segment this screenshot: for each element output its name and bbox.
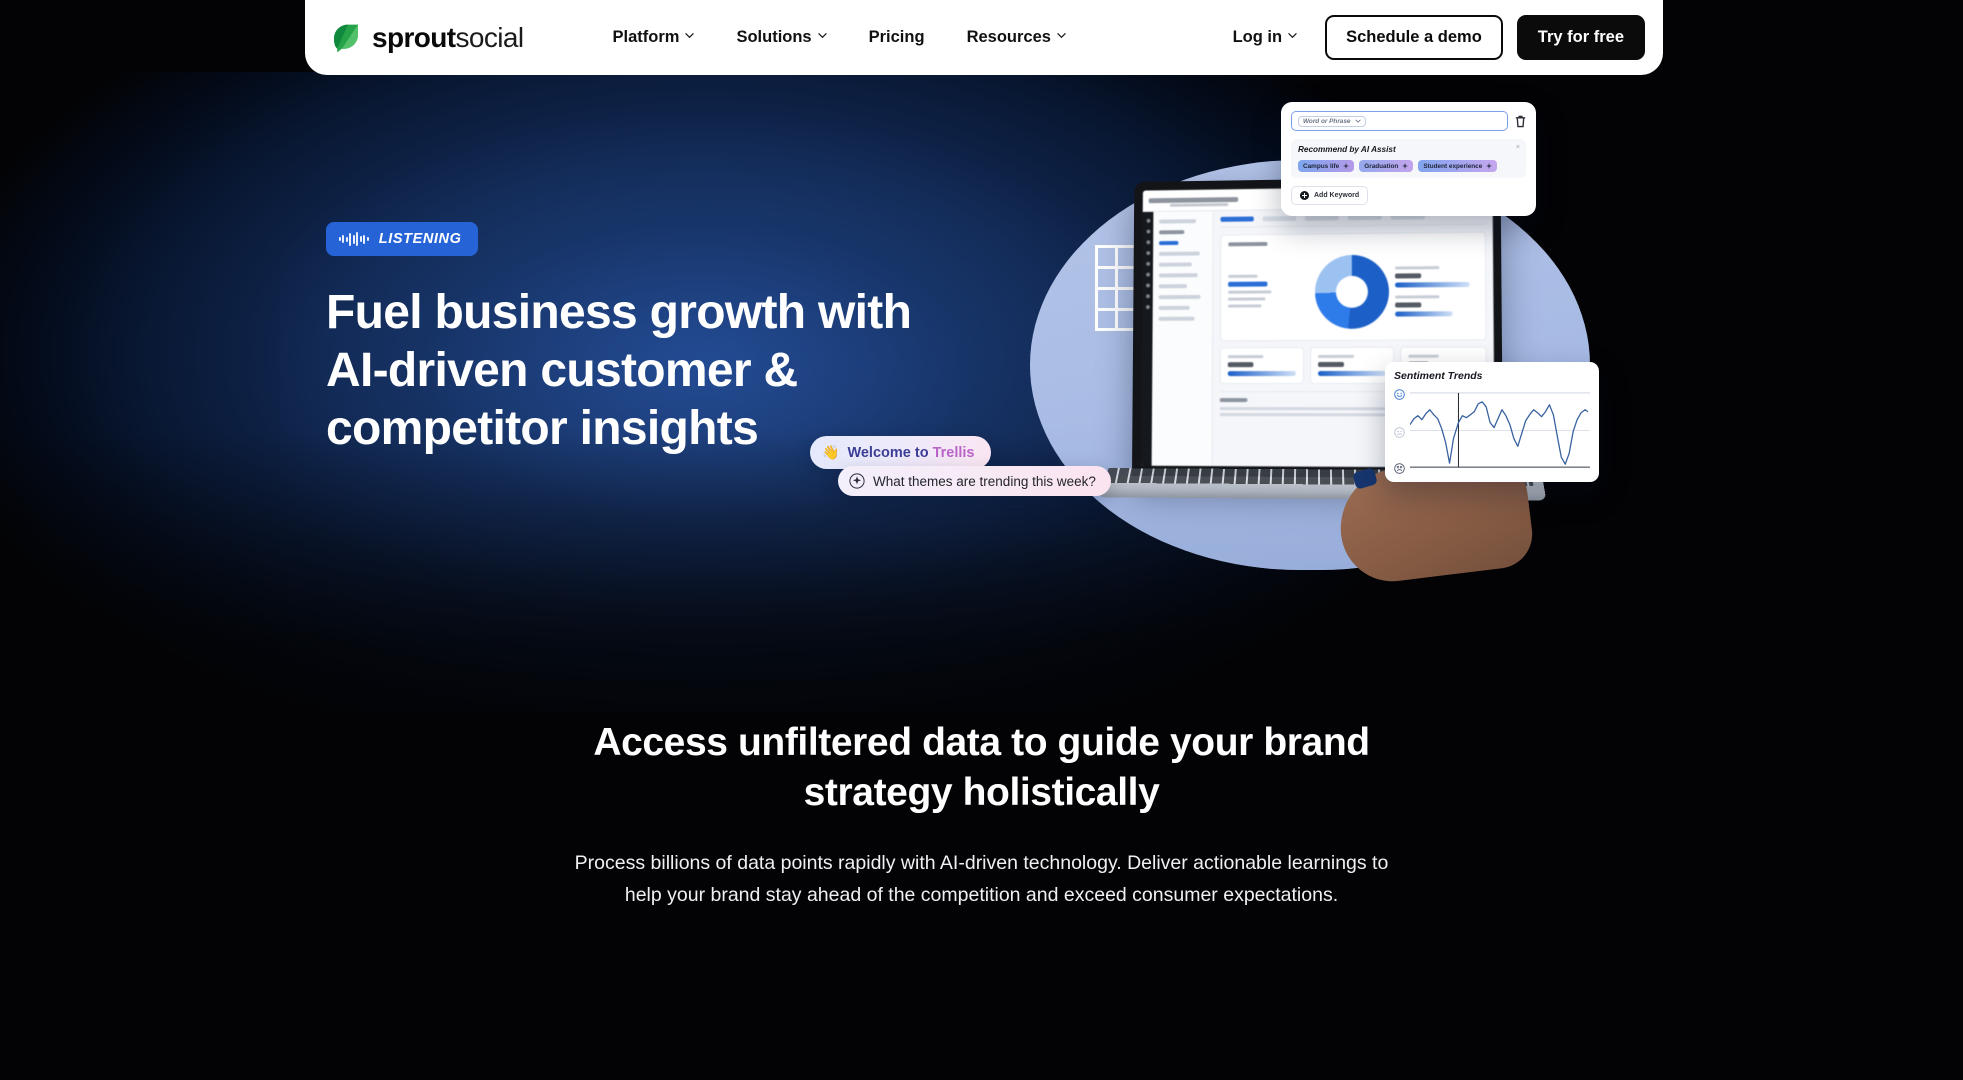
- sparkle-circle-icon: [849, 473, 865, 489]
- sparkle-icon: [1402, 163, 1408, 169]
- suggested-keyword-tags: Campus life Graduation Student experienc…: [1298, 160, 1519, 172]
- nav-item-pricing[interactable]: Pricing: [848, 20, 946, 55]
- sparkle-icon: [1343, 163, 1349, 169]
- add-keyword-label: Add Keyword: [1314, 192, 1359, 199]
- keyword-tag-label: Campus life: [1303, 163, 1339, 170]
- brand-logo[interactable]: sproutsocial: [331, 22, 524, 53]
- brand-name: sproutsocial: [372, 24, 524, 52]
- brand-name-light: social: [456, 22, 524, 53]
- sparkle-icon: [1486, 163, 1492, 169]
- sprout-leaf-logo-icon: [331, 22, 361, 53]
- nav-item-solutions-label: Solutions: [736, 28, 811, 47]
- hero-title-line-2: AI-driven customer &: [326, 344, 797, 397]
- section-body-text: Process billions of data points rapidly …: [564, 848, 1400, 912]
- nav-actions: Log in Schedule a demo Try for free: [1219, 15, 1645, 60]
- keyword-input[interactable]: Word or Phrase: [1291, 111, 1508, 131]
- ai-assist-panel: Recommend by AI Assist × Campus life Gra…: [1291, 139, 1526, 178]
- add-keyword-button[interactable]: Add Keyword: [1291, 186, 1368, 205]
- schedule-demo-button[interactable]: Schedule a demo: [1325, 15, 1503, 60]
- trash-icon[interactable]: [1515, 115, 1526, 128]
- donut-chart: [1315, 255, 1389, 329]
- keyword-tag-label: Student experience: [1423, 163, 1482, 170]
- sentiment-line-plot: [1410, 389, 1590, 472]
- nav-item-resources[interactable]: Resources: [946, 20, 1087, 55]
- word-or-phrase-label: Word or Phrase: [1303, 118, 1350, 125]
- nav-item-platform-label: Platform: [613, 28, 680, 47]
- keyword-tag-label: Graduation: [1364, 163, 1398, 170]
- close-icon[interactable]: ×: [1516, 144, 1520, 151]
- nav-item-platform[interactable]: Platform: [592, 20, 716, 55]
- listening-badge-label: LISTENING: [379, 231, 462, 247]
- sentiment-trends-card: Sentiment Trends: [1385, 362, 1599, 482]
- chevron-down-icon: [1288, 31, 1297, 40]
- happy-face-icon: [1394, 387, 1405, 398]
- prompt-chat-bubble: What themes are trending this week?: [838, 466, 1111, 496]
- sentiment-trends-title: Sentiment Trends: [1394, 370, 1590, 382]
- neutral-face-icon: [1394, 425, 1405, 436]
- primary-nav-links: Platform Solutions Pricing Resources: [592, 20, 1087, 55]
- audio-waveform-icon: [339, 232, 369, 247]
- nav-item-pricing-label: Pricing: [869, 28, 925, 47]
- chevron-down-icon: [685, 31, 694, 40]
- keyword-tag[interactable]: Campus life: [1298, 160, 1354, 172]
- ai-assist-title: Recommend by AI Assist: [1298, 145, 1519, 154]
- nav-item-solutions[interactable]: Solutions: [715, 20, 847, 55]
- listening-badge: LISTENING: [326, 222, 478, 256]
- top-navigation-bar: sproutsocial Platform Solutions Pricing …: [305, 0, 1663, 75]
- section-title: Access unfiltered data to guide your bra…: [532, 718, 1432, 818]
- plus-icon: [1300, 191, 1309, 200]
- word-or-phrase-select[interactable]: Word or Phrase: [1298, 116, 1366, 127]
- sad-face-icon: [1394, 461, 1405, 472]
- hero-illustration: Word or Phrase Recommend by AI Assist × …: [1010, 100, 1630, 580]
- dashboard-sidebar: [1152, 211, 1214, 466]
- hero-content: LISTENING Fuel business growth with AI-d…: [326, 222, 1006, 457]
- try-for-free-button[interactable]: Try for free: [1517, 15, 1645, 60]
- login-menu[interactable]: Log in: [1219, 20, 1311, 55]
- keyword-tag[interactable]: Graduation: [1359, 160, 1413, 172]
- dashboard-subtitle-placeholder: [1170, 203, 1228, 207]
- hero-title: Fuel business growth with AI-driven cust…: [326, 284, 1006, 457]
- prompt-bubble-text: What themes are trending this week?: [873, 474, 1096, 489]
- hero-title-line-3: competitor insights: [326, 402, 758, 455]
- value-proposition-section: Access unfiltered data to guide your bra…: [0, 718, 1963, 911]
- keyword-builder-card: Word or Phrase Recommend by AI Assist × …: [1281, 102, 1536, 216]
- keyword-tag[interactable]: Student experience: [1418, 160, 1497, 172]
- section-title-line-1: Access unfiltered data to guide your bra…: [593, 721, 1369, 764]
- page-background: [0, 0, 1963, 1080]
- login-label: Log in: [1233, 28, 1282, 47]
- summary-card: [1220, 232, 1487, 342]
- sentiment-trends-chart: [1394, 389, 1590, 473]
- chevron-down-icon: [818, 31, 827, 40]
- nav-item-resources-label: Resources: [967, 28, 1051, 47]
- hero-title-line-1: Fuel business growth with: [326, 286, 911, 339]
- chevron-down-icon: [1057, 31, 1066, 40]
- section-title-line-2: strategy holistically: [804, 771, 1160, 814]
- brand-name-bold: sprout: [372, 22, 456, 53]
